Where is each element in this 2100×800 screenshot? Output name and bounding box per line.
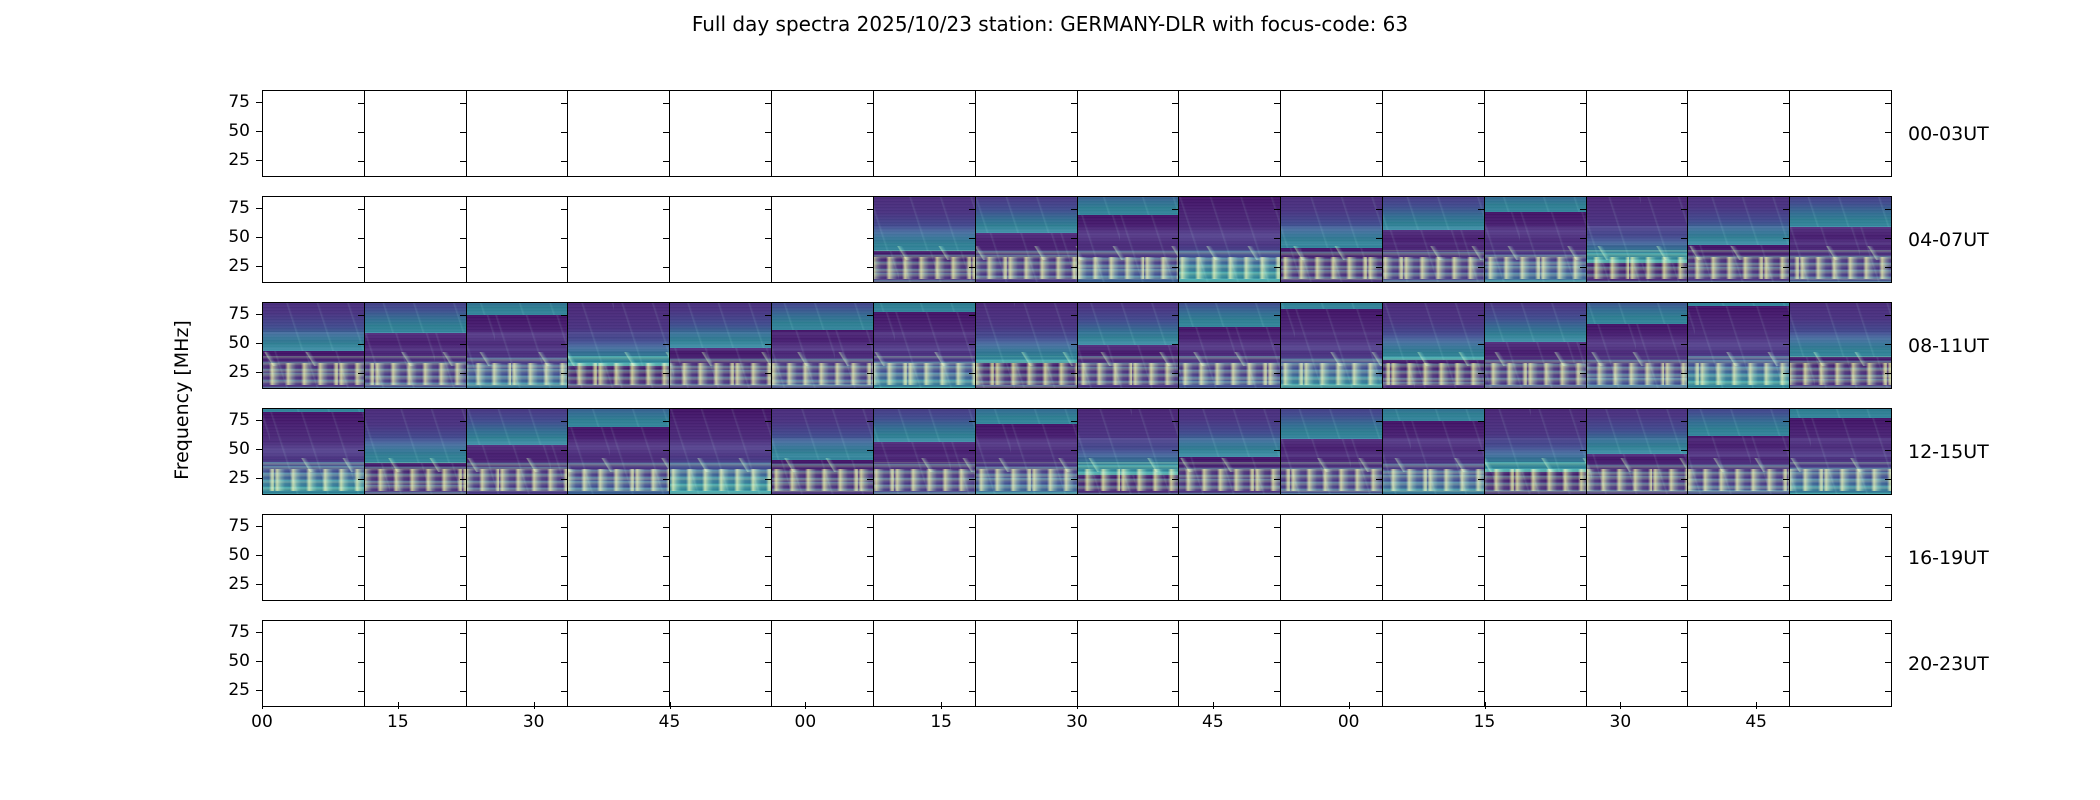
panel-y-tick [1681,633,1687,634]
spectrogram-panel[interactable] [976,409,1078,494]
panel-y-tick [1478,691,1484,692]
spectrogram-panel[interactable] [1281,197,1383,282]
spectrogram-panel[interactable] [365,409,467,494]
spectrogram-panel[interactable] [772,91,874,176]
spectrogram-panel[interactable] [1790,409,1891,494]
panel-y-tick [460,238,466,239]
spectrogram-panel[interactable] [568,515,670,600]
panel-y-tick [1478,479,1484,480]
spectrogram-panel[interactable] [1179,91,1281,176]
panel-y-tick [969,450,975,451]
spectrogram-panel[interactable] [365,621,467,706]
spectrogram-panel[interactable] [1587,409,1689,494]
panel-y-tick [663,238,669,239]
panel-y-tick [1071,527,1077,528]
spectrogram-panel[interactable] [1281,621,1383,706]
spectrogram-panel[interactable] [1281,303,1383,388]
spectrogram-layer-streaks [1688,469,1789,491]
x-tick-mark [1077,702,1078,709]
panel-y-tick [1478,450,1484,451]
panel-y-tick [1580,585,1586,586]
spectrogram-panel[interactable] [1078,621,1180,706]
spectrogram-layer-streaks [1790,469,1891,491]
spectrogram-panel[interactable] [874,197,976,282]
spectrogram-panel[interactable] [467,621,569,706]
panel-y-tick [1172,373,1178,374]
panel-y-tick [765,691,771,692]
panel-y-tick [969,421,975,422]
spectrogram-panel[interactable] [1485,303,1587,388]
panel-y-tick [1376,344,1382,345]
row-panels [262,514,1892,601]
spectrogram-image [1078,303,1179,388]
spectrogram-panel[interactable] [1485,515,1587,600]
spectrogram-panel[interactable] [1281,409,1383,494]
y-tick-label: 75 [228,198,250,218]
panel-y-tick [663,315,669,316]
panel-y-tick [867,662,873,663]
panel-y-tick [1783,691,1789,692]
spectrogram-panel[interactable] [1179,621,1281,706]
spectrogram-panel[interactable] [1485,91,1587,176]
panel-y-tick [1071,691,1077,692]
panel-y-tick [1885,267,1891,268]
panel-y-tick [561,479,567,480]
x-tick-mark [1620,702,1621,709]
panel-y-tick [1376,373,1382,374]
spectrogram-image [976,409,1077,494]
panel-y-tick [969,161,975,162]
panel-y-tick [1783,103,1789,104]
spectrogram-image [976,303,1077,388]
spectra-row: 25507508-11UT [262,302,1892,389]
panel-y-tick [1274,585,1280,586]
panel-y-tick [1783,450,1789,451]
spectrogram-panel[interactable] [568,409,670,494]
spectrogram-image [467,303,568,388]
panel-y-tick [1274,344,1280,345]
spectrogram-image [874,409,975,494]
spectrogram-image [263,303,364,388]
panel-y-tick [867,238,873,239]
spectrogram-panel[interactable] [263,197,365,282]
panel-y-tick [1580,103,1586,104]
spectrogram-panel[interactable] [772,515,874,600]
panel-y-tick [1172,161,1178,162]
spectrogram-panel[interactable] [1688,621,1790,706]
spectrogram-layer-streaks [1587,363,1688,385]
panel-y-tick [1172,691,1178,692]
spectrogram-image [1485,197,1586,282]
spectrogram-panel[interactable] [1179,409,1281,494]
spectrogram-panel[interactable] [874,621,976,706]
panel-y-tick [1376,238,1382,239]
spectrogram-panel[interactable] [670,197,772,282]
spectrogram-panel[interactable] [263,409,365,494]
panel-y-tick [1376,421,1382,422]
panel-y-tick [1274,527,1280,528]
spectrogram-panel[interactable] [467,197,569,282]
panel-y-tick [1478,209,1484,210]
spectrogram-panel[interactable] [1790,91,1891,176]
spectrogram-layer-streaks [772,469,873,491]
panel-y-tick [969,556,975,557]
panel-y-tick [663,556,669,557]
y-tick-label: 50 [228,439,250,459]
panel-y-tick [1071,315,1077,316]
spectrogram-panel[interactable] [874,91,976,176]
panel-y-tick [561,161,567,162]
panel-y-tick [358,209,364,210]
panel-y-tick [867,103,873,104]
spectrogram-panel[interactable] [365,303,467,388]
spectrogram-panel[interactable] [1383,303,1485,388]
y-tick-label: 75 [228,410,250,430]
panel-y-tick [1478,267,1484,268]
spectrogram-layer-streaks [1078,469,1179,491]
spectrogram-panel[interactable] [1281,515,1383,600]
spectrogram-panel[interactable] [1688,91,1790,176]
spectrogram-image [365,303,466,388]
panel-y-tick [1783,585,1789,586]
panel-y-tick [1580,209,1586,210]
spectrogram-panel[interactable] [1078,515,1180,600]
panel-y-tick [1681,662,1687,663]
panel-y-tick [1376,315,1382,316]
panel-y-tick [765,238,771,239]
panel-y-tick [1071,585,1077,586]
spectrogram-panel[interactable] [976,91,1078,176]
y-tick-label: 25 [228,150,250,170]
spectrogram-panel[interactable] [1688,409,1790,494]
spectrogram-panel[interactable] [1078,303,1180,388]
spectrogram-image [670,409,771,494]
panel-y-tick [1681,344,1687,345]
spectrogram-panel[interactable] [874,409,976,494]
panel-y-tick [1580,267,1586,268]
panel-y-tick [1885,421,1891,422]
spectrogram-layer-streaks [1281,469,1382,491]
panel-y-tick [663,103,669,104]
spectrogram-panel[interactable] [772,621,874,706]
panel-y-tick [561,209,567,210]
panel-y-tick [1172,132,1178,133]
panel-y-tick [867,161,873,162]
spectrogram-panel[interactable] [568,91,670,176]
spectrogram-panel[interactable] [467,409,569,494]
panel-y-tick [1274,315,1280,316]
panel-y-tick [1274,662,1280,663]
spectrogram-image [1688,409,1789,494]
panel-y-tick [358,527,364,528]
x-tick-label: 30 [523,712,545,732]
panel-y-tick [460,209,466,210]
panel-y-tick [1681,315,1687,316]
panel-y-tick [358,556,364,557]
panel-y-tick [460,132,466,133]
panel-y-tick [1580,527,1586,528]
spectrogram-image [1179,409,1280,494]
spectrogram-panel[interactable] [263,91,365,176]
spectrogram-panel[interactable] [568,197,670,282]
panel-y-tick [1172,633,1178,634]
row-label-08-11ut: 08-11UT [1908,335,1989,357]
spectrogram-panel[interactable] [1383,409,1485,494]
panel-y-tick [1172,556,1178,557]
spectrogram-image [670,303,771,388]
panel-y-tick [1681,373,1687,374]
spectrogram-layer-streaks [467,363,568,385]
y-tick-label: 25 [228,680,250,700]
spectrogram-panel[interactable] [976,621,1078,706]
spectrogram-panel[interactable] [1485,409,1587,494]
spectrogram-panel[interactable] [1179,515,1281,600]
spectrogram-panel[interactable] [1485,197,1587,282]
spectrogram-panel[interactable] [976,303,1078,388]
x-tick-label: 00 [251,712,273,732]
x-tick-mark [1485,702,1486,709]
spectrogram-image [1587,303,1688,388]
panel-y-tick [765,103,771,104]
spectrogram-panel[interactable] [1688,515,1790,600]
spectrogram-image [365,409,466,494]
spectrogram-image [1587,409,1688,494]
panel-y-tick [358,132,364,133]
panel-y-tick [1478,344,1484,345]
spectrogram-panel[interactable] [1790,515,1891,600]
spectrogram-panel[interactable] [365,91,467,176]
page-title: Full day spectra 2025/10/23 station: GER… [0,12,2100,36]
spectrogram-panel[interactable] [1790,621,1891,706]
panel-y-tick [1274,633,1280,634]
y-tick-label: 25 [228,362,250,382]
panel-y-tick [663,161,669,162]
panel-y-tick [1580,662,1586,663]
panel-y-tick [1580,691,1586,692]
panel-y-tick [1071,161,1077,162]
panel-y-tick [969,691,975,692]
y-tick-label: 50 [228,121,250,141]
panel-y-tick [765,527,771,528]
spectrogram-layer-streaks [1179,257,1280,279]
spectrogram-panel[interactable] [467,91,569,176]
spectrogram-panel[interactable] [365,197,467,282]
panel-y-tick [460,344,466,345]
panel-y-tick [1783,662,1789,663]
spectrogram-panel[interactable] [1179,197,1281,282]
panel-y-tick [460,315,466,316]
panel-y-tick [1885,556,1891,557]
spectrogram-image [263,409,364,494]
x-tick-mark [534,702,535,709]
panel-y-tick [1681,585,1687,586]
spectrogram-image [1688,197,1789,282]
panel-y-tick [969,527,975,528]
panel-y-tick [867,132,873,133]
panel-y-tick [1478,315,1484,316]
spectrogram-image [772,409,873,494]
panel-y-tick [1885,479,1891,480]
spectrogram-panel[interactable] [1179,303,1281,388]
spectrogram-layer-streaks [1383,257,1484,279]
spectrogram-layer-streaks [568,469,669,491]
panel-y-tick [1172,344,1178,345]
panel-y-tick [1478,373,1484,374]
spectrogram-panel[interactable] [772,409,874,494]
panel-y-tick [1783,421,1789,422]
panel-y-tick [1274,209,1280,210]
panel-y-tick [1274,450,1280,451]
panel-y-tick [1478,527,1484,528]
spectrogram-panel[interactable] [1587,303,1689,388]
y-tick-label: 75 [228,304,250,324]
spectrogram-image [1179,303,1280,388]
y-tick-label: 50 [228,227,250,247]
panel-y-tick [460,556,466,557]
panel-y-tick [358,662,364,663]
spectrogram-panel[interactable] [670,91,772,176]
panel-y-tick [1071,344,1077,345]
spectrogram-panel[interactable] [467,515,569,600]
panel-y-tick [663,633,669,634]
panel-y-tick [1172,662,1178,663]
panel-y-tick [663,421,669,422]
panel-y-tick [663,209,669,210]
panel-y-tick [1478,103,1484,104]
panel-y-tick [867,450,873,451]
spectrogram-image [1078,197,1179,282]
spectrogram-panel[interactable] [568,621,670,706]
spectrogram-image [568,409,669,494]
spectrogram-panel[interactable] [1587,621,1689,706]
panel-y-tick [561,450,567,451]
x-tick-label: 45 [659,712,681,732]
panel-y-tick [1478,662,1484,663]
subplot-grid: 25507500-03UT25507504-07UT25507508-11UT2… [262,90,1892,710]
y-tick-label: 75 [228,516,250,536]
panel-y-tick [1681,421,1687,422]
panel-y-tick [1580,633,1586,634]
spectrogram-panel[interactable] [1587,197,1689,282]
spectrogram-panel[interactable] [1078,197,1180,282]
panel-y-tick [1885,238,1891,239]
panel-y-tick [460,161,466,162]
spectrogram-panel[interactable] [1281,91,1383,176]
spectrogram-panel[interactable] [772,197,874,282]
row-label-20-23ut: 20-23UT [1908,653,1989,675]
spectrogram-panel[interactable] [1587,91,1689,176]
row-panels [262,620,1892,707]
spectrogram-image [568,303,669,388]
panel-y-tick [1376,633,1382,634]
panel-y-tick [1376,103,1382,104]
panel-y-tick [1885,103,1891,104]
spectrogram-panel[interactable] [670,409,772,494]
spectrogram-layer-streaks [365,363,466,385]
panel-y-tick [1274,103,1280,104]
spectrogram-panel[interactable] [1383,515,1485,600]
spectrogram-panel[interactable] [1383,91,1485,176]
panel-y-tick [1580,479,1586,480]
panel-y-tick [765,344,771,345]
panel-y-tick [867,527,873,528]
panel-y-tick [765,556,771,557]
spectrogram-image [772,303,873,388]
panel-y-tick [1885,585,1891,586]
panel-y-tick [765,633,771,634]
panel-y-tick [1783,373,1789,374]
panel-y-tick [1071,421,1077,422]
spectrogram-panel[interactable] [263,621,365,706]
panel-y-tick [663,344,669,345]
panel-y-tick [1681,556,1687,557]
spectrogram-layer-streaks [1485,363,1586,385]
spectrogram-panel[interactable] [365,515,467,600]
spectrogram-panel[interactable] [263,515,365,600]
panel-y-tick [1580,161,1586,162]
panel-y-tick [1071,373,1077,374]
y-tick-labels: 255075 [202,620,262,707]
spectrogram-image [1078,409,1179,494]
panel-y-tick [1885,527,1891,528]
panel-y-tick [1478,556,1484,557]
panel-y-tick [765,267,771,268]
panel-y-tick [460,450,466,451]
spectrogram-panel[interactable] [874,303,976,388]
panel-y-tick [765,585,771,586]
spectrogram-panel[interactable] [976,197,1078,282]
panel-y-tick [1783,479,1789,480]
spectrogram-image [1281,409,1382,494]
spectrogram-panel[interactable] [1383,197,1485,282]
spectrogram-panel[interactable] [670,303,772,388]
spectrogram-panel[interactable] [874,515,976,600]
spectrogram-panel[interactable] [467,303,569,388]
spectrogram-panel[interactable] [568,303,670,388]
spectrogram-image [1790,197,1891,282]
panel-y-tick [1783,238,1789,239]
panel-y-tick [969,267,975,268]
spectrogram-panel[interactable] [263,303,365,388]
panel-y-tick [1172,103,1178,104]
spectrogram-panel[interactable] [1485,621,1587,706]
panel-y-tick [1376,585,1382,586]
spectrogram-panel[interactable] [772,303,874,388]
spectrogram-panel[interactable] [1383,621,1485,706]
spectrogram-panel[interactable] [976,515,1078,600]
spectrogram-panel[interactable] [1587,515,1689,600]
spectrogram-image [1383,303,1484,388]
spectrogram-image [467,409,568,494]
spectrogram-panel[interactable] [1078,91,1180,176]
spectrogram-panel[interactable] [1078,409,1180,494]
panel-y-tick [358,344,364,345]
spectrogram-layer-streaks [263,469,364,491]
spectrogram-image [1790,303,1891,388]
spectrogram-layer-streaks [568,363,669,385]
spectrogram-panel[interactable] [1790,197,1891,282]
y-tick-label: 25 [228,574,250,594]
spectrogram-panel[interactable] [1688,303,1790,388]
spectrogram-figure: Full day spectra 2025/10/23 station: GER… [0,0,2100,800]
panel-y-tick [1376,209,1382,210]
spectrogram-panel[interactable] [670,515,772,600]
panel-y-tick [765,373,771,374]
spectrogram-panel[interactable] [1688,197,1790,282]
spectrogram-panel[interactable] [670,621,772,706]
panel-y-tick [1172,209,1178,210]
spectrogram-panel[interactable] [1790,303,1891,388]
